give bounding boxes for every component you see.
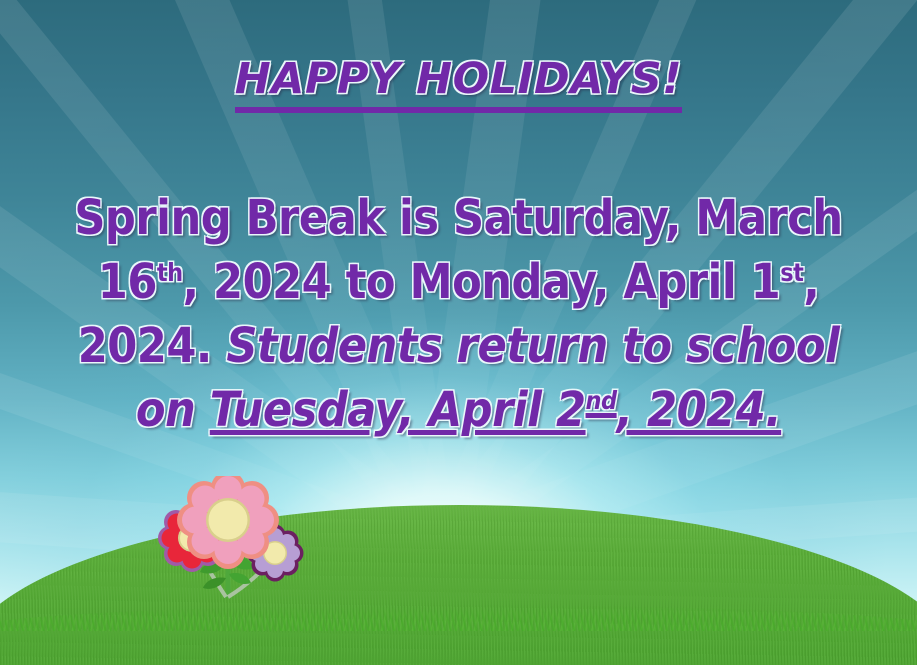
text-layer: HAPPY HOLIDAYS! Spring Break is Saturday…	[0, 0, 917, 665]
text-segment: ,	[803, 254, 819, 310]
message-line4: on Tuesday, April 2nd, 2024.	[8, 378, 909, 442]
message-line2: 16th, 2024 to Monday, April 1st,	[8, 250, 909, 314]
text-segment: Tuesday, April 2	[210, 382, 586, 438]
text-segment: Students return to school	[226, 318, 839, 374]
text-segment: 2024.	[78, 318, 227, 374]
message-line1: Spring Break is Saturday, March	[8, 186, 909, 250]
text-segment: nd	[586, 386, 617, 415]
text-segment: 16	[98, 254, 157, 310]
text-segment: , 2024.	[617, 382, 782, 438]
text-segment: , 2024 to Monday, April 1	[183, 254, 781, 310]
text-segment: on	[136, 382, 210, 438]
message-line3: 2024. Students return to school	[8, 314, 909, 378]
message-body: Spring Break is Saturday, March16th, 202…	[8, 186, 909, 442]
text-segment: st	[780, 258, 803, 287]
text-segment: Spring Break is Saturday, March	[74, 190, 842, 246]
headline: HAPPY HOLIDAYS!	[0, 54, 917, 113]
slide-canvas: HAPPY HOLIDAYS! Spring Break is Saturday…	[0, 0, 917, 665]
headline-text: HAPPY HOLIDAYS!	[235, 54, 683, 113]
text-segment: th	[157, 258, 183, 287]
